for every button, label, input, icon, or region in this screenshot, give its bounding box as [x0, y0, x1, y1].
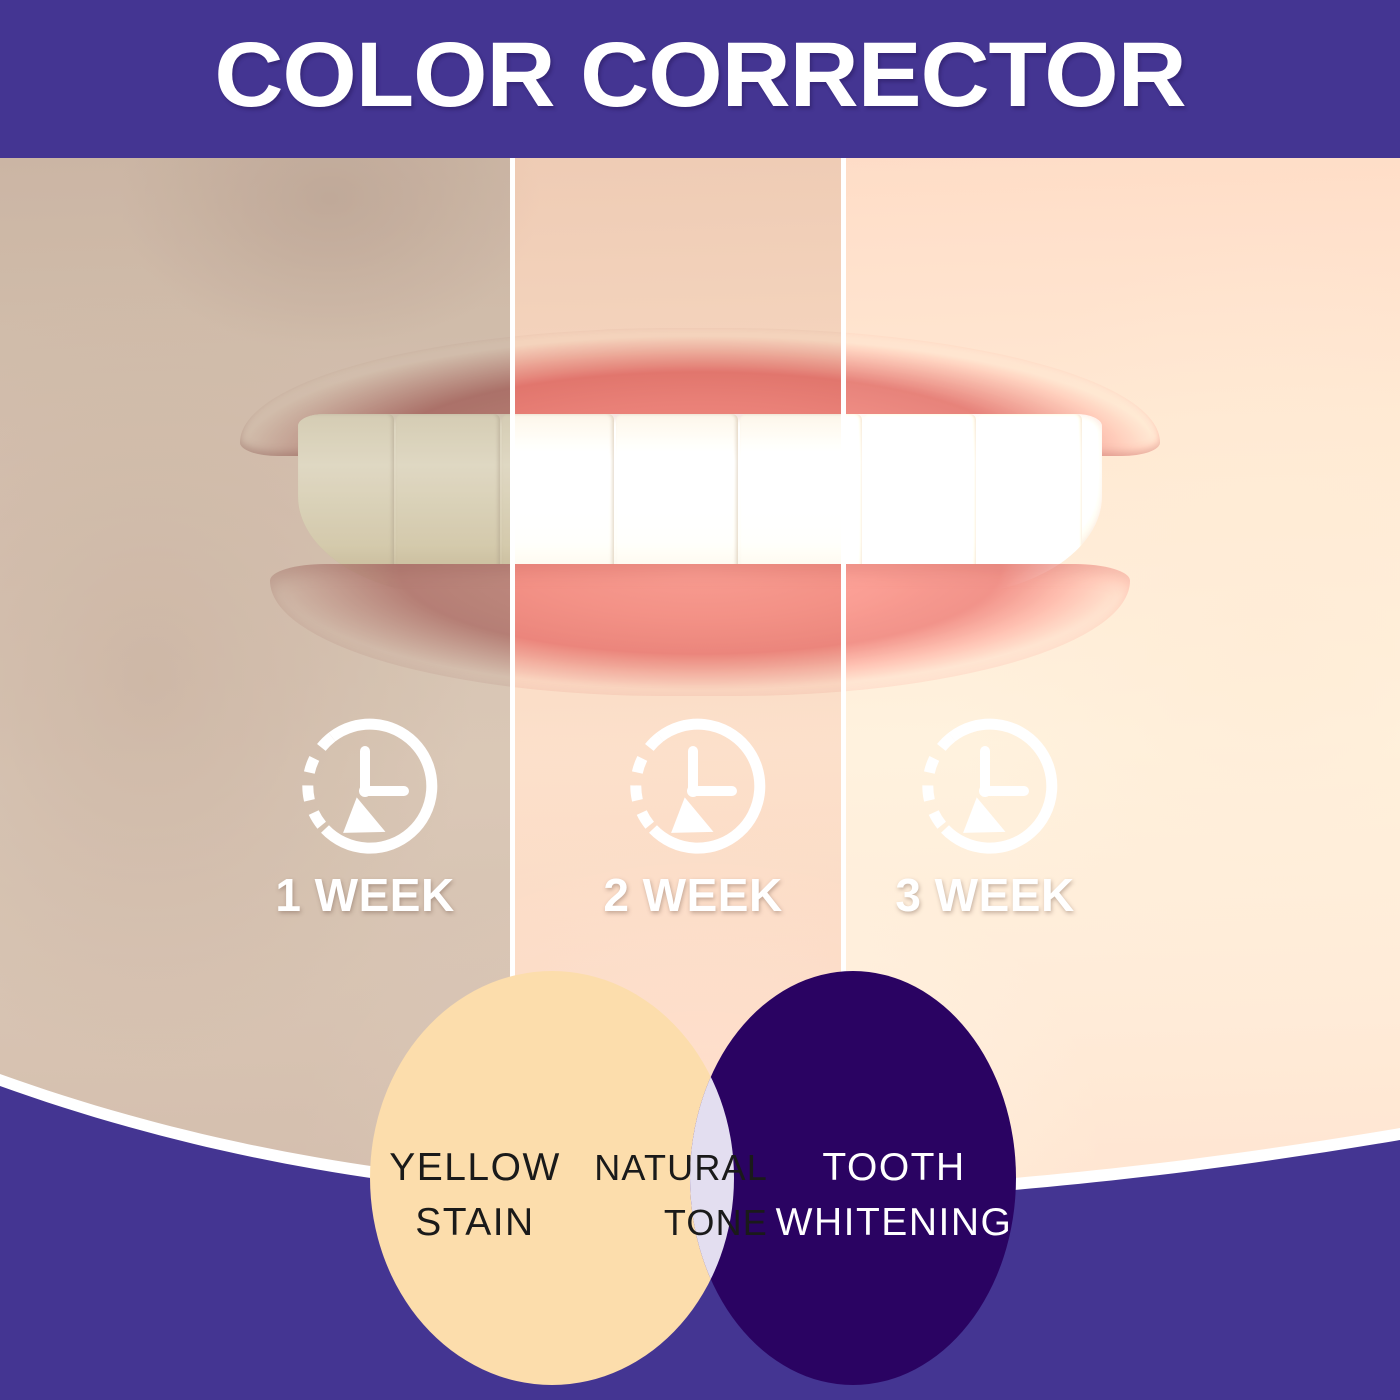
venn-label-left-line2: STAIN [415, 1201, 534, 1244]
page-title: COLOR CORRECTOR [0, 0, 1400, 158]
venn-label-overlap-line1: NATURAL [594, 1147, 768, 1188]
venn-label-overlap-line2: TONE [664, 1202, 768, 1243]
mouth-week-3 [846, 328, 1160, 688]
wave-purple-fill [0, 1086, 1400, 1400]
bottom-wave-band [0, 1000, 1400, 1400]
timeline-step-1[interactable]: 1 WEEK [250, 716, 480, 918]
product-infographic: 1 WEEK 2 WEEK [0, 0, 1400, 1400]
venn-label-right-line1: TOOTH [822, 1146, 965, 1189]
clock-arrow-icon [618, 716, 768, 866]
venn-label-left-line1: YELLOW [389, 1146, 561, 1189]
header-band: COLOR CORRECTOR [0, 0, 1400, 158]
lower-lip [515, 564, 841, 696]
timeline-step-3[interactable]: 3 WEEK [870, 716, 1100, 918]
venn-label-right-line2: WHITENING [776, 1201, 1013, 1244]
timeline-step-label: 3 WEEK [870, 872, 1100, 918]
timeline-step-label: 2 WEEK [578, 872, 808, 918]
timeline-step-2[interactable]: 2 WEEK [578, 716, 808, 918]
clock-arrow-icon [910, 716, 1060, 866]
lower-lip [846, 564, 1130, 696]
clock-arrow-icon [290, 716, 440, 866]
lower-lip [270, 564, 510, 696]
mouth-week-2 [515, 328, 841, 688]
timeline-step-label: 1 WEEK [250, 872, 480, 918]
mouth-week-1 [240, 328, 510, 688]
